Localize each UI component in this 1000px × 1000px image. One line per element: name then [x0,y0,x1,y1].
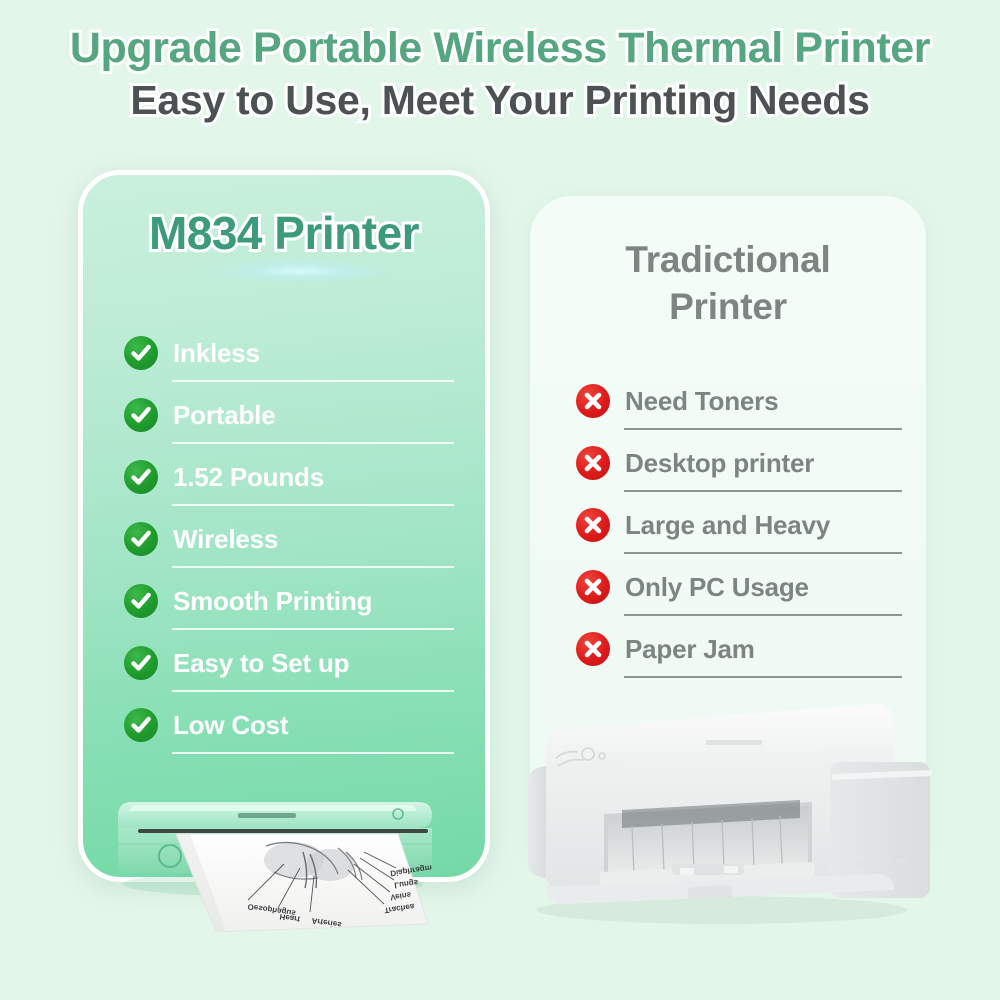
cross-circle-icon [576,384,610,418]
item-divider [172,380,454,382]
item-divider [624,490,902,492]
item-divider [172,442,454,444]
traditional-card-title: Tradictional Printer [530,236,926,331]
list-item-label: Need Toners [625,386,778,417]
list-item: 1.52 Pounds [124,446,454,508]
headline-block: Upgrade Portable Wireless Thermal Printe… [0,24,1000,124]
check-circle-icon [124,398,158,432]
list-item-label: Easy to Set up [173,648,349,679]
check-circle-icon [124,460,158,494]
list-item-label: Portable [173,400,275,431]
list-item-label: Desktop printer [625,448,814,479]
list-item: Low Cost [124,694,454,756]
infographic-canvas: Upgrade Portable Wireless Thermal Printe… [0,0,1000,1000]
check-circle-icon [124,336,158,370]
list-item: Portable [124,384,454,446]
item-divider [624,552,902,554]
traditional-drawback-list: Need Toners Desktop printer Large and He… [576,370,902,680]
m834-card-title: M834 Printer [78,206,490,260]
list-item-label: Inkless [173,338,260,369]
traditional-card-title-line2: Printer [530,283,926,330]
item-divider [624,428,902,430]
cross-circle-icon [576,446,610,480]
headline-secondary: Easy to Use, Meet Your Printing Needs [0,78,1000,124]
list-item: Need Toners [576,370,902,432]
cross-circle-icon [576,570,610,604]
list-item: Large and Heavy [576,494,902,556]
check-circle-icon [124,708,158,742]
cross-circle-icon [576,632,610,666]
list-item-label: Paper Jam [625,634,755,665]
list-item: Desktop printer [576,432,902,494]
list-item-label: Large and Heavy [625,510,830,541]
list-item-label: Wireless [173,524,278,555]
list-item: Only PC Usage [576,556,902,618]
item-divider [624,676,902,678]
check-circle-icon [124,522,158,556]
item-divider [172,690,454,692]
item-divider [172,628,454,630]
item-divider [624,614,902,616]
traditional-card-title-line1: Tradictional [530,236,926,283]
cross-circle-icon [576,508,610,542]
portable-thermal-printer-photo: Oesophagus Heart Arteries Trachea Veins … [98,772,518,932]
list-item: Wireless [124,508,454,570]
list-item: Inkless [124,322,454,384]
item-divider [172,752,454,754]
list-item-label: Smooth Printing [173,586,372,617]
traditional-desktop-printer-photo [512,686,942,932]
list-item-label: Only PC Usage [625,572,809,603]
list-item: Smooth Printing [124,570,454,632]
check-circle-icon [124,646,158,680]
m834-feature-list: Inkless Portable 1.52 Pounds Wireless [124,322,454,756]
lens-flare-decoration [205,258,395,284]
list-item: Paper Jam [576,618,902,680]
list-item-label: Low Cost [173,710,288,741]
item-divider [172,504,454,506]
item-divider [172,566,454,568]
list-item: Easy to Set up [124,632,454,694]
headline-primary: Upgrade Portable Wireless Thermal Printe… [0,24,1000,72]
list-item-label: 1.52 Pounds [173,462,324,493]
check-circle-icon [124,584,158,618]
